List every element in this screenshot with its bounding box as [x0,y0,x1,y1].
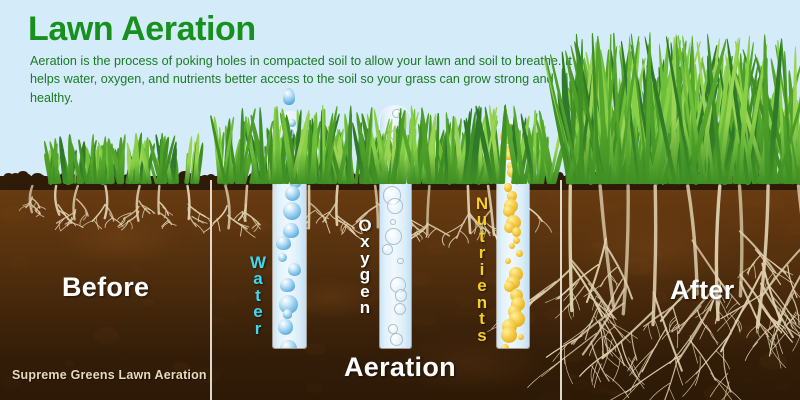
channel-label-oxygen: Oxygen [352,218,378,317]
section-divider-left [210,180,212,400]
channel-label-letter: s [469,328,495,344]
nutrient-pellet [509,243,515,249]
channel-label-letter: r [245,321,271,337]
oxygen-bubble [385,228,402,245]
water-droplet [283,202,301,220]
oxygen-bubble [382,244,393,255]
oxygen-bubble [387,198,403,214]
water-droplet [278,253,288,263]
oxygen-bubble [394,303,406,315]
water-droplet [285,186,300,201]
channel-label-letter: n [352,300,378,316]
infographic-canvas: Lawn Aeration Aeration is the process of… [0,0,800,400]
water-droplet [278,319,294,335]
water-droplet [280,278,295,293]
oxygen-bubble [390,333,403,346]
nutrient-pellet [501,327,517,343]
oxygen-bubble [397,258,403,264]
channel-label-nutrients: Nutrients [469,196,495,344]
nutrient-pellet [516,250,523,257]
label-aeration: Aeration [344,352,456,383]
water-droplet [280,340,297,349]
nutrient-pellet [505,258,511,264]
water-droplet [276,236,291,251]
nutrient-pellet [512,227,522,237]
nutrient-pellet [501,344,510,348]
footer-branding: Supreme Greens Lawn Aeration [12,368,207,382]
label-before: Before [62,272,149,303]
channel-label-water: Water [245,255,271,337]
page-description: Aeration is the process of poking holes … [30,52,575,107]
label-after: After [670,275,735,306]
nutrient-pellet [518,334,524,340]
page-title: Lawn Aeration [28,12,256,46]
water-droplet [288,263,301,276]
oxygen-bubble [395,289,408,302]
oxygen-bubble [390,219,396,225]
water-droplet [283,309,292,318]
section-divider-right [560,180,562,400]
